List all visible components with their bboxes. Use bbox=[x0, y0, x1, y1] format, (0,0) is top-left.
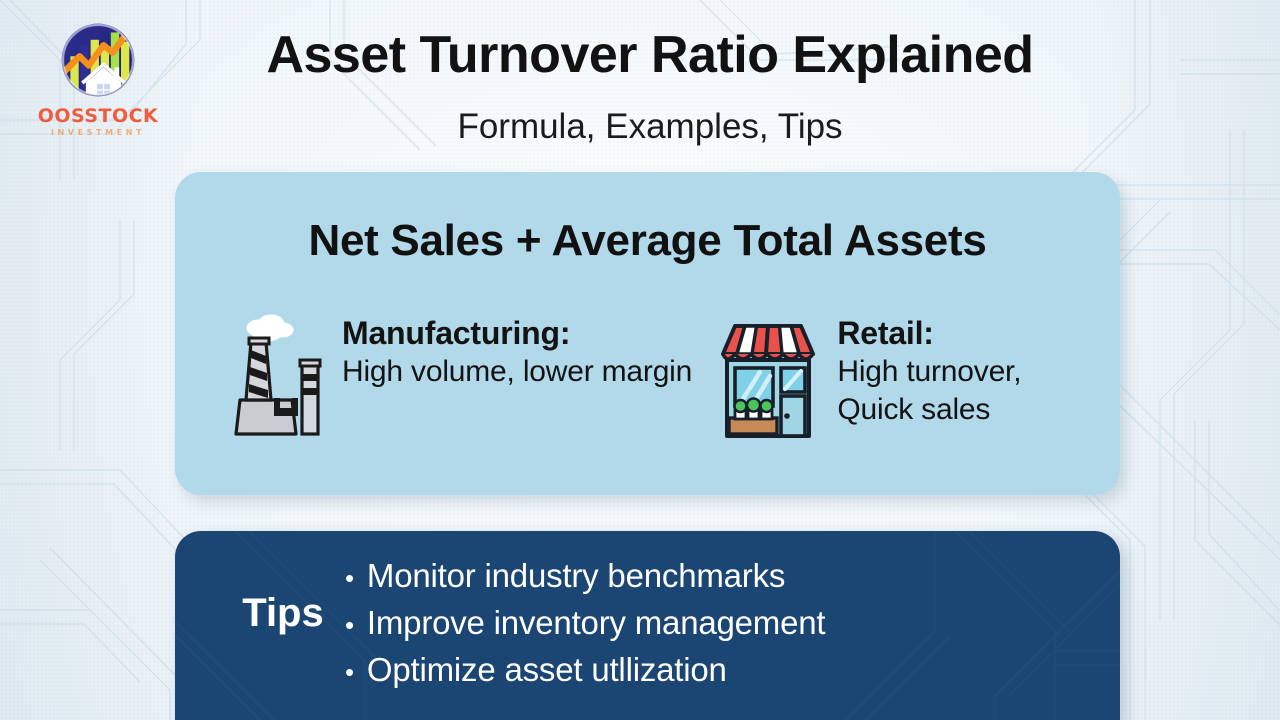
example-manufacturing-heading: Manufacturing: bbox=[342, 314, 692, 353]
brand-logo[interactable]: OOSSTOCK INVESTMENT bbox=[24, 14, 172, 137]
tips-list-item: • Optimize asset utllization bbox=[345, 647, 1100, 694]
tips-list-item: • Improve inventory management bbox=[345, 600, 1100, 647]
tips-list: • Monitor industry benchmarks • Improve … bbox=[345, 553, 1100, 694]
example-manufacturing-text: Manufacturing: High volume, lower margin bbox=[342, 312, 692, 391]
tips-list-item: • Monitor industry benchmarks bbox=[345, 553, 1100, 600]
stock-chart-house-logo-icon bbox=[52, 14, 144, 106]
formula-card: Net Sales + Average Total Assets bbox=[175, 172, 1120, 495]
formula-text: Net Sales + Average Total Assets bbox=[175, 216, 1120, 266]
tips-list-item-label: Optimize asset utllization bbox=[367, 647, 727, 694]
brand-tagline: INVESTMENT bbox=[24, 129, 172, 137]
example-manufacturing: Manufacturing: High volume, lower margin bbox=[230, 312, 693, 449]
slide-canvas: OOSSTOCK INVESTMENT Asset Turnover Ratio… bbox=[0, 0, 1280, 720]
example-retail-text: Retail: High turnover, Quick sales bbox=[837, 312, 1090, 430]
factory-icon bbox=[230, 312, 326, 449]
bullet-icon: • bbox=[345, 659, 354, 685]
example-retail-heading: Retail: bbox=[837, 314, 1090, 353]
storefront-icon bbox=[715, 312, 821, 449]
example-list: Manufacturing: High volume, lower margin bbox=[230, 312, 1090, 449]
tips-card: Tips • Monitor industry benchmarks • Imp… bbox=[175, 531, 1120, 720]
bullet-icon: • bbox=[345, 565, 354, 591]
brand-name: OOSSTOCK bbox=[24, 107, 172, 126]
example-manufacturing-body: High volume, lower margin bbox=[342, 353, 692, 391]
page-title: Asset Turnover Ratio Explained bbox=[180, 27, 1120, 83]
tips-list-item-label: Improve inventory management bbox=[367, 600, 825, 647]
tips-label: Tips bbox=[203, 591, 363, 636]
page-subtitle: Formula, Examples, Tips bbox=[180, 108, 1120, 147]
example-retail: Retail: High turnover, Quick sales bbox=[715, 312, 1090, 449]
tips-list-item-label: Monitor industry benchmarks bbox=[367, 553, 785, 600]
bullet-icon: • bbox=[345, 612, 354, 638]
example-retail-body: High turnover, Quick sales bbox=[837, 353, 1090, 430]
